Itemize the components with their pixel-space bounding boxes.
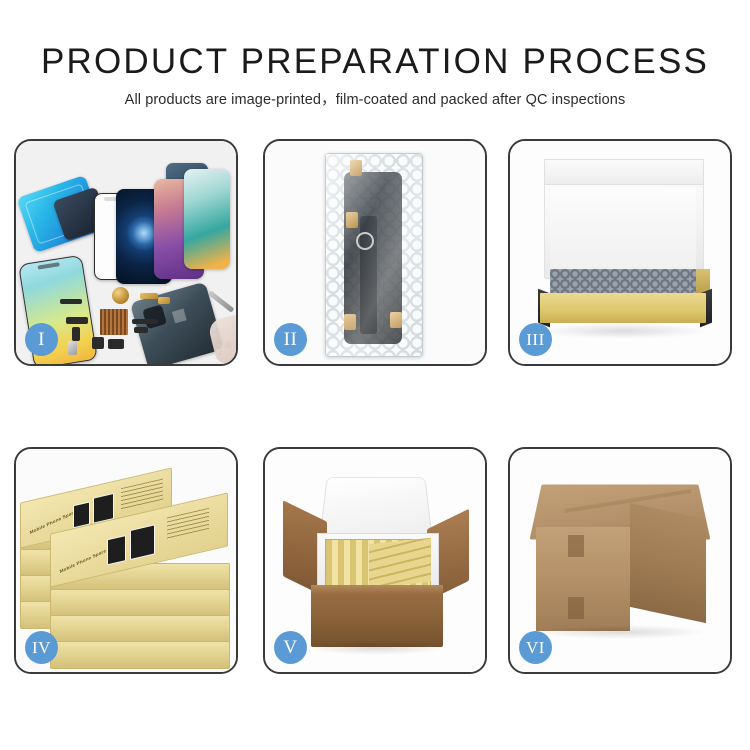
stacked-box (50, 615, 230, 643)
step-card-bubble-wrap-packing: II (263, 139, 487, 366)
taptic-engine (92, 337, 104, 349)
phone-screen-teal-gradient (184, 169, 230, 269)
vibration-motor (112, 287, 129, 304)
header: PRODUCT PREPARATION PROCESS All products… (0, 0, 750, 108)
step-card-products-overview: I (14, 139, 238, 366)
page-subtitle: All products are image-printed，film-coat… (0, 93, 750, 108)
carton-front-edge (311, 585, 443, 595)
carton-shadow (309, 641, 445, 655)
step-badge: II (274, 323, 307, 356)
flex-cable-1 (66, 317, 88, 324)
stacked-box (50, 589, 230, 617)
tape-strip-bottom (568, 597, 584, 619)
box-shadow (538, 323, 708, 339)
stacked-box (50, 641, 230, 669)
box-artwork-phone-1 (107, 535, 126, 565)
yellow-boxes-stack (369, 538, 431, 589)
step-badge: VI (519, 631, 552, 664)
sim-tray (158, 297, 170, 304)
foam-sheet (550, 187, 696, 273)
product-preparation-infographic: PRODUCT PREPARATION PROCESS All products… (0, 0, 750, 750)
tape-tab-bottom-right (390, 312, 402, 328)
flex-connector-gold (140, 293, 158, 299)
camera-module (134, 327, 148, 333)
box-spec-lines (167, 508, 209, 540)
box-lid-flap (544, 159, 704, 185)
step-card-sealed-carton: VI (508, 447, 732, 674)
tape-tab-bottom-left (344, 314, 356, 330)
page-title: PRODUCT PREPARATION PROCESS (0, 44, 750, 79)
logic-board (100, 309, 128, 335)
step-card-foam-carton-packing: V (263, 447, 487, 674)
flex-cable-2 (72, 327, 80, 341)
kraft-box-front (540, 293, 706, 323)
tape-strip-top (568, 535, 584, 557)
step-card-retail-boxes-stacked: Mobile Phone Spare Parts Mobile Phone Sp… (14, 447, 238, 674)
tape-tab-top (350, 160, 362, 176)
box-artwork-phone-2 (130, 524, 155, 560)
box-spec-lines (121, 479, 163, 511)
bubble-wrap-bag (325, 153, 423, 357)
flex-cable-3 (132, 319, 158, 324)
box-stack: Mobile Phone Spare Parts Mobile Phone Sp… (20, 471, 232, 659)
tape-tab-middle (346, 212, 358, 228)
home-button-ring (356, 232, 374, 250)
speaker-strip (60, 299, 82, 304)
carton-shadow (534, 625, 708, 639)
process-steps-grid: I II (14, 139, 736, 674)
earpiece-speaker (108, 339, 124, 349)
carton-side-panel (630, 503, 706, 623)
battery-connector (68, 341, 77, 355)
step-badge: IV (25, 631, 58, 664)
step-badge: V (274, 631, 307, 664)
step-card-inner-box-packing: III (508, 139, 732, 366)
step-badge: III (519, 323, 552, 356)
step-badge: I (25, 323, 58, 356)
